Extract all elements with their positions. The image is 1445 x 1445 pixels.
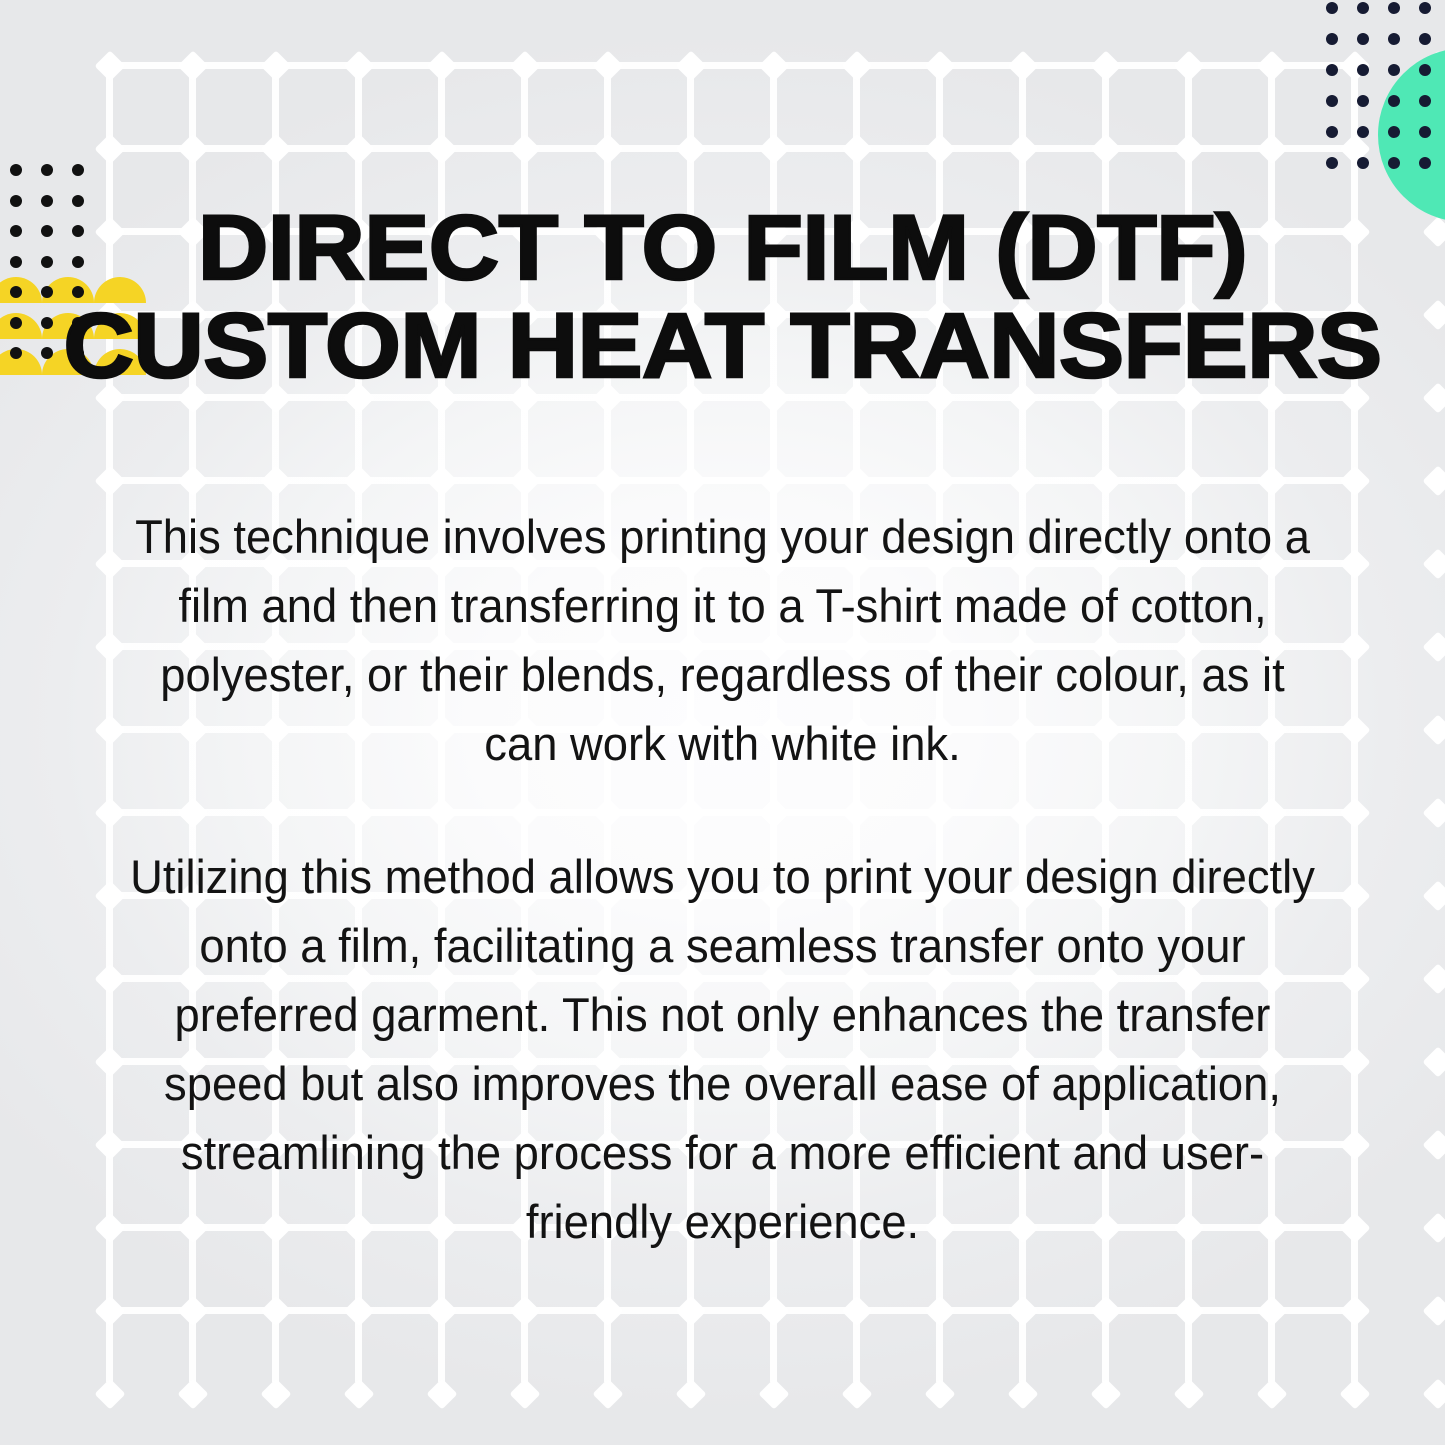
page-title: DIRECT TO FILM (DTF) CUSTOM HEAT TRANSFE… — [0, 199, 1445, 395]
title-line-1: DIRECT TO FILM (DTF) — [0, 199, 1445, 297]
body-paragraph-1: This technique involves printing your de… — [118, 502, 1327, 778]
content-layer: DIRECT TO FILM (DTF) CUSTOM HEAT TRANSFE… — [0, 0, 1445, 1445]
title-line-2: CUSTOM HEAT TRANSFERS — [0, 297, 1445, 395]
poster-canvas: DIRECT TO FILM (DTF) CUSTOM HEAT TRANSFE… — [0, 0, 1445, 1445]
body-paragraph-2: Utilizing this method allows you to prin… — [108, 842, 1336, 1256]
